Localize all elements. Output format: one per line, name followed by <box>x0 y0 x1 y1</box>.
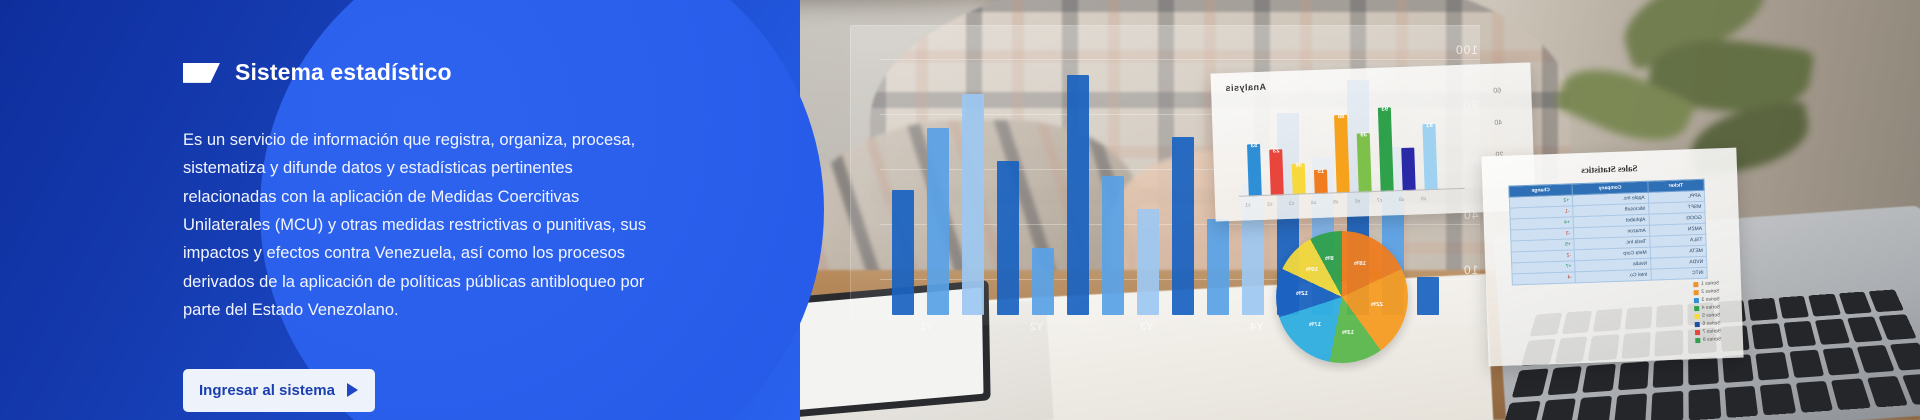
pie-slice-label: 22% <box>1371 302 1383 308</box>
title-row: Sistema estadístico <box>183 0 683 102</box>
legend-label: Series 7 <box>1702 328 1721 335</box>
legend-swatch <box>1693 298 1698 303</box>
analysis-bar <box>1401 148 1415 191</box>
analysis-card-title: Analysis <box>1225 82 1266 93</box>
overlay-ytick: 100 <box>1455 43 1478 57</box>
legend-item: Series 7 <box>1694 328 1721 335</box>
legend-swatch <box>1693 282 1698 287</box>
analysis-xtick: c1 <box>1245 202 1250 208</box>
analysis-bar: 36 <box>1292 163 1306 195</box>
legend-swatch <box>1694 322 1699 327</box>
analysis-xtick: c8 <box>1399 197 1404 203</box>
analysis-bar: 81 <box>1422 123 1437 190</box>
background-photo: 100 80 60 40 10 Y1 Y2 Y3 Y4 Y5 Analysis … <box>680 0 1920 420</box>
overlay-bar <box>1067 75 1089 315</box>
legend-label: Series 5 <box>1702 312 1721 319</box>
analysis-xtick: c3 <box>1289 201 1294 207</box>
analysis-xtick: c2 <box>1267 202 1272 208</box>
legend-label: Series 6 <box>1702 320 1721 327</box>
analysis-xtick: c5 <box>1333 199 1338 205</box>
analysis-bar: 93 <box>1378 108 1394 192</box>
play-triangle-icon <box>347 383 358 397</box>
pie-slice-label: 12% <box>1296 291 1308 297</box>
legend-item: Series 5 <box>1694 312 1721 319</box>
overlay-bar <box>927 128 949 315</box>
legend-swatch <box>1694 330 1699 335</box>
legend-label: Series 1 <box>1701 280 1720 287</box>
sales-cell: Intel Co. <box>1575 269 1651 283</box>
pie-slice-label: 8% <box>1325 256 1334 262</box>
legend-item: Series 4 <box>1693 304 1720 311</box>
enter-system-button[interactable]: Ingresar al sistema <box>183 369 375 412</box>
analysis-ytick: 40 <box>1495 119 1503 126</box>
overlay-ytick: 10 <box>1463 263 1478 277</box>
analysis-bar: 86 <box>1334 115 1350 193</box>
overlay-pie-chart: 18%22%13%17%12%10%8% <box>1276 231 1408 363</box>
legend-item: Series 6 <box>1694 320 1721 327</box>
description-text: Es un servicio de información que regist… <box>183 126 669 325</box>
legend-label: Series 4 <box>1701 304 1720 311</box>
analysis-xtick: c7 <box>1377 198 1382 204</box>
pie-slice-label: 13% <box>1342 330 1354 336</box>
legend-label: Series 2 <box>1701 288 1720 295</box>
legend-item: Series 1 <box>1693 280 1720 287</box>
pie-slice-label: 17% <box>1309 322 1321 328</box>
overlay-xtick: Y2 <box>1030 321 1043 333</box>
page-title: Sistema estadístico <box>235 59 452 86</box>
analysis-xtick: c4 <box>1311 200 1316 206</box>
sales-legend: Series 1Series 2Series 3Series 4Series 5… <box>1693 280 1722 345</box>
analysis-bar: 15 <box>1314 170 1328 194</box>
sales-card-title: Sales Statistics <box>1482 160 1737 179</box>
sales-cell: -4 <box>1512 272 1576 285</box>
overlay-bar <box>962 94 984 315</box>
overlay-bar <box>1207 219 1229 315</box>
analysis-bar: 39 <box>1357 133 1372 192</box>
overlay-xtick: Y4 <box>1250 321 1263 333</box>
analysis-xtick: c9 <box>1421 196 1426 202</box>
flag-parallelogram-icon <box>183 63 220 83</box>
sales-cell: INTC <box>1651 267 1708 280</box>
legend-swatch <box>1693 306 1698 311</box>
legend-item: Series 3 <box>1693 296 1720 303</box>
sales-table: TickerCompanyChange APPLApple Inc.+2MSFT… <box>1508 179 1707 286</box>
overlay-bar <box>1172 137 1194 315</box>
legend-swatch <box>1693 290 1698 295</box>
overlay-xtick: Y3 <box>1140 321 1153 333</box>
overlay-bar <box>1137 209 1159 315</box>
overlay-bar <box>1032 248 1054 315</box>
pie-slice-label: 10% <box>1306 267 1318 273</box>
hero-banner: 100 80 60 40 10 Y1 Y2 Y3 Y4 Y5 Analysis … <box>0 0 1920 420</box>
legend-label: Series 3 <box>1701 296 1720 303</box>
overlay-bar <box>1417 277 1439 315</box>
legend-swatch <box>1695 338 1700 343</box>
overlay-xtick: Y1 <box>920 321 933 333</box>
sales-statistics-card: Sales Statistics TickerCompanyChange APP… <box>1481 148 1743 367</box>
enter-system-button-label: Ingresar al sistema <box>199 382 335 399</box>
analysis-xtick: c6 <box>1355 198 1360 204</box>
legend-item: Series 8 <box>1695 336 1722 343</box>
overlay-bar <box>1102 176 1124 315</box>
overlay-bar <box>997 161 1019 315</box>
analysis-ytick: 60 <box>1493 87 1501 94</box>
legend-swatch <box>1694 314 1699 319</box>
analysis-bar: 23 <box>1269 150 1284 196</box>
legend-label: Series 8 <box>1702 336 1721 343</box>
legend-item: Series 2 <box>1693 288 1720 295</box>
pie-slice-label: 18% <box>1354 261 1366 267</box>
banner-content: Sistema estadístico Es un servicio de in… <box>183 0 683 420</box>
analysis-bar: 53 <box>1247 144 1262 197</box>
overlay-bar <box>892 190 914 315</box>
